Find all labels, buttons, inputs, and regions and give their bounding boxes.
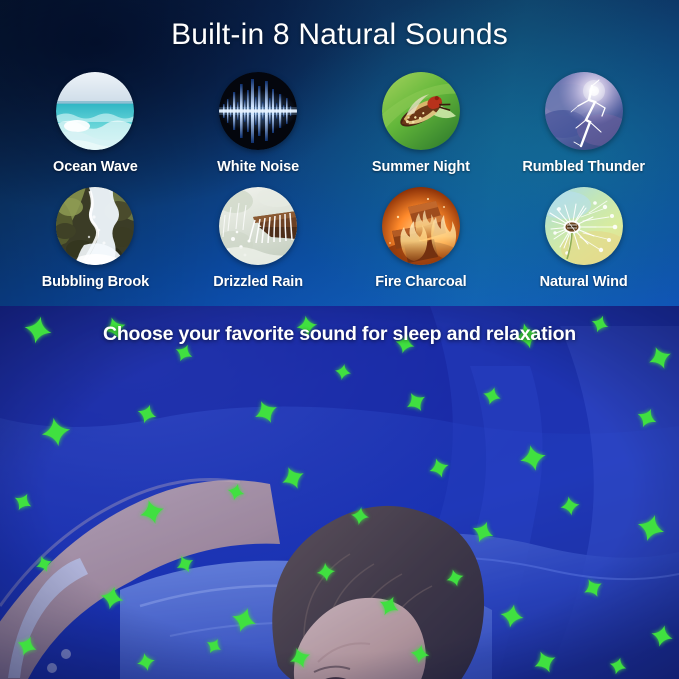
sound-label: Ocean Wave <box>53 159 138 175</box>
sound-item-rumbled-thunder[interactable]: Rumbled Thunder <box>502 72 665 175</box>
ocean-wave-icon <box>56 72 134 150</box>
sound-label: Drizzled Rain <box>213 274 303 290</box>
sound-label: White Noise <box>217 159 299 175</box>
fire-charcoal-icon <box>382 187 460 265</box>
sound-label: Summer Night <box>372 159 470 175</box>
natural-wind-icon <box>545 187 623 265</box>
product-feature-image: Built-in 8 Natural Sounds <box>0 0 679 679</box>
sounds-panel: Built-in 8 Natural Sounds <box>0 0 679 306</box>
drizzled-rain-icon <box>219 187 297 265</box>
tagline: Choose your favorite sound for sleep and… <box>0 323 679 346</box>
sound-item-fire-charcoal[interactable]: Fire Charcoal <box>340 187 503 290</box>
page-title: Built-in 8 Natural Sounds <box>0 18 679 52</box>
sound-grid: Ocean Wave <box>14 72 665 290</box>
green-star-projection-overlay <box>0 306 679 679</box>
sound-item-ocean-wave[interactable]: Ocean Wave <box>14 72 177 175</box>
sound-item-drizzled-rain[interactable]: Drizzled Rain <box>177 187 340 290</box>
sleep-scene-panel: Choose your favorite sound for sleep and… <box>0 306 679 679</box>
sound-label: Fire Charcoal <box>375 274 466 290</box>
sound-label: Rumbled Thunder <box>522 159 645 175</box>
rumbled-thunder-icon <box>545 72 623 150</box>
sound-item-summer-night[interactable]: Summer Night <box>340 72 503 175</box>
sound-item-white-noise[interactable]: White Noise <box>177 72 340 175</box>
sound-item-natural-wind[interactable]: Natural Wind <box>502 187 665 290</box>
summer-night-icon <box>382 72 460 150</box>
sound-item-bubbling-brook[interactable]: Bubbling Brook <box>14 187 177 290</box>
bubbling-brook-icon <box>56 187 134 265</box>
white-noise-icon <box>219 72 297 150</box>
sound-label: Natural Wind <box>540 274 628 290</box>
sound-label: Bubbling Brook <box>42 274 149 290</box>
